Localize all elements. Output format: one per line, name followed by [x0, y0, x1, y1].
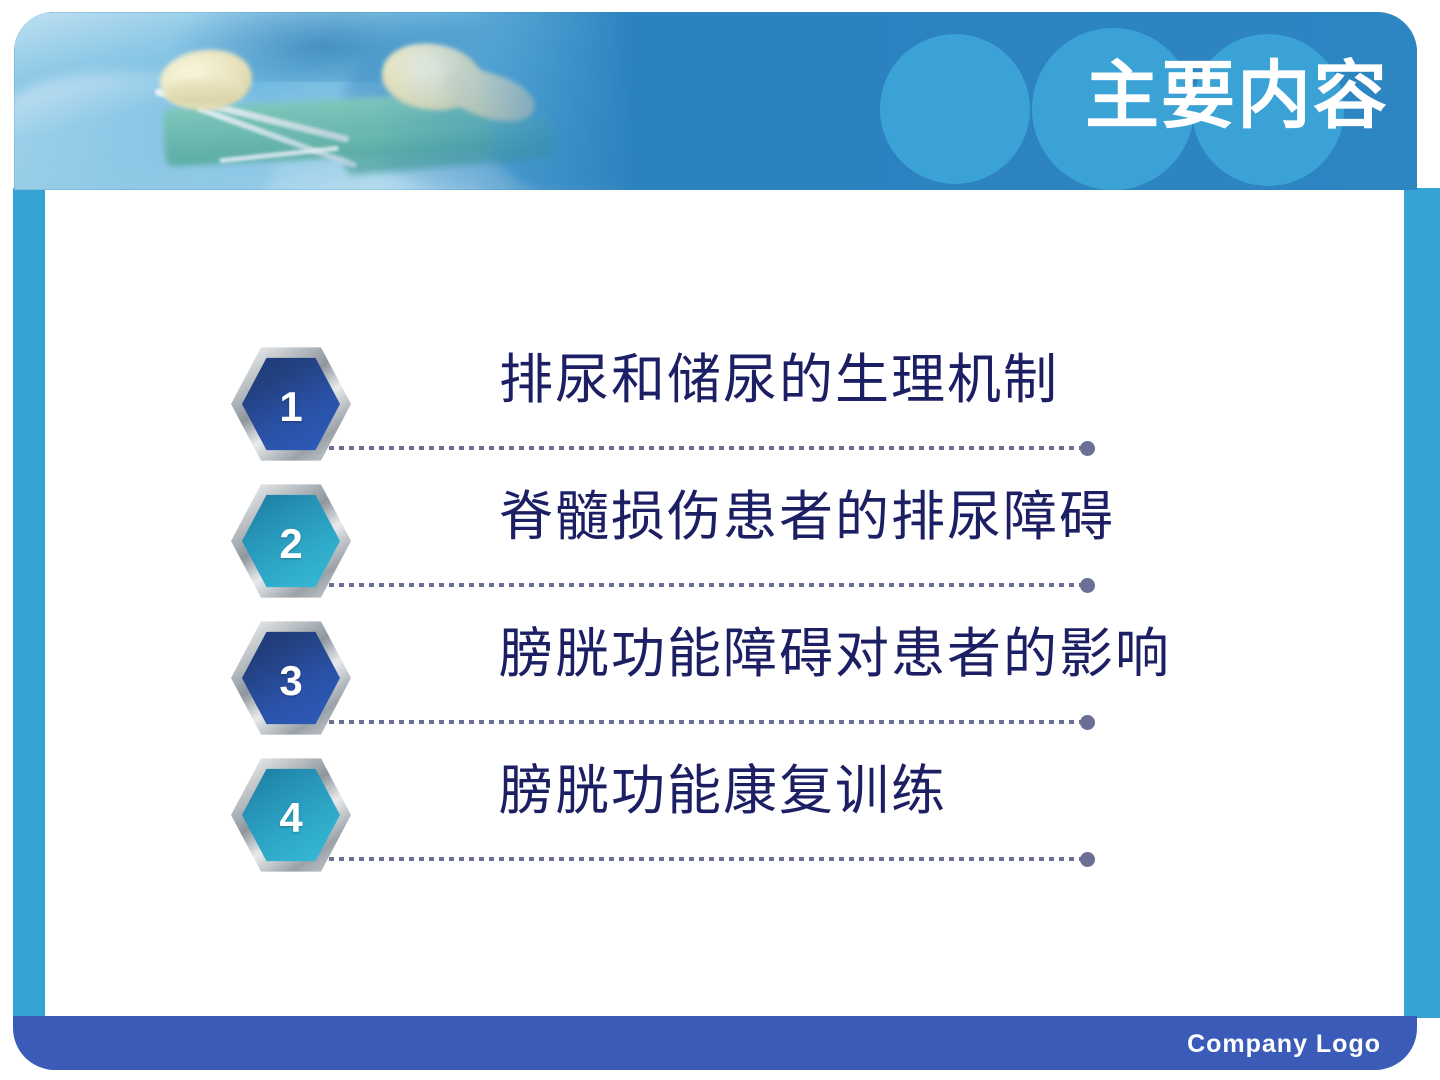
connector-line: [329, 855, 1089, 863]
agenda-number: 2: [242, 493, 340, 589]
connector-end-dot-icon: [1080, 578, 1095, 593]
list-item[interactable]: 1 排尿和储尿的生理机制: [231, 345, 1331, 482]
agenda-list: 1 排尿和储尿的生理机制 2 脊髓损伤患者的排尿障碍: [231, 345, 1331, 893]
dotted-line: [329, 857, 1089, 861]
surgery-photo: [14, 12, 634, 190]
dotted-line: [329, 446, 1089, 450]
connector-line: [329, 581, 1089, 589]
content-panel: 1 排尿和储尿的生理机制 2 脊髓损伤患者的排尿障碍: [45, 190, 1404, 1018]
company-logo-text[interactable]: Company Logo: [1187, 1030, 1381, 1059]
agenda-label: 膀胱功能康复训练: [499, 760, 947, 822]
connector-end-dot-icon: [1080, 441, 1095, 456]
connector-end-dot-icon: [1080, 715, 1095, 730]
connector-line: [329, 444, 1089, 452]
list-item[interactable]: 4 膀胱功能康复训练: [231, 756, 1331, 893]
slide-root: 主要内容 1 排尿和储尿的生理机制: [0, 0, 1440, 1080]
accent-bar-left: [13, 188, 45, 1018]
dotted-line: [329, 583, 1089, 587]
connector-line: [329, 718, 1089, 726]
connector-end-dot-icon: [1080, 852, 1095, 867]
agenda-label: 脊髓损伤患者的排尿障碍: [499, 486, 1115, 548]
header-banner: 主要内容: [14, 12, 1417, 190]
list-item[interactable]: 3 膀胱功能障碍对患者的影响: [231, 619, 1331, 756]
page-title: 主要内容: [1085, 60, 1389, 134]
agenda-number: 1: [242, 356, 340, 452]
agenda-label: 排尿和储尿的生理机制: [499, 349, 1059, 411]
agenda-number: 4: [242, 767, 340, 863]
footer-bar: Company Logo: [13, 1016, 1417, 1070]
dotted-line: [329, 720, 1089, 724]
list-item[interactable]: 2 脊髓损伤患者的排尿障碍: [231, 482, 1331, 619]
accent-bar-right: [1404, 188, 1440, 1018]
banner-circle-1: [880, 34, 1030, 184]
agenda-label: 膀胱功能障碍对患者的影响: [499, 623, 1171, 685]
agenda-number: 3: [242, 630, 340, 726]
